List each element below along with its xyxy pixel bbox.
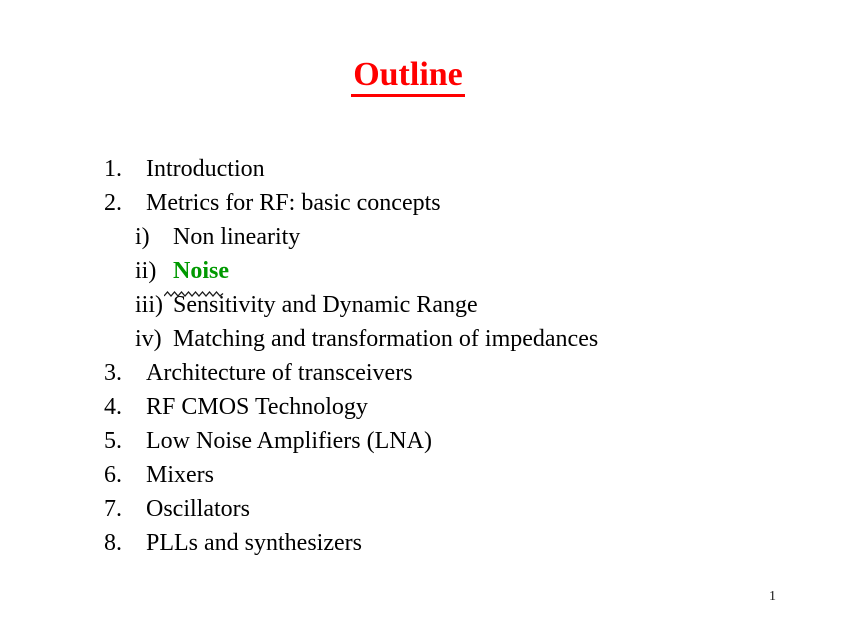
list-item-marker: ii) bbox=[135, 254, 173, 288]
list-item-label: RF CMOS Technology bbox=[146, 390, 368, 424]
list-item: iv) Matching and transformation of imped… bbox=[104, 322, 804, 356]
list-item-label: PLLs and synthesizers bbox=[146, 526, 362, 560]
list-item: 1. Introduction bbox=[104, 152, 804, 186]
list-item-marker: 5. bbox=[104, 424, 146, 458]
list-item: 8. PLLs and synthesizers bbox=[104, 526, 804, 560]
list-item: iii) Sensitivity and Dynamic Range bbox=[104, 288, 804, 322]
outline-list: 1. Introduction 2. Metrics for RF: basic… bbox=[104, 152, 804, 560]
list-item-label-highlighted: Noise bbox=[173, 254, 229, 288]
page-number: 1 bbox=[769, 590, 776, 604]
list-item: 5. Low Noise Amplifiers (LNA) bbox=[104, 424, 804, 458]
list-item-label: Architecture of transceivers bbox=[146, 356, 413, 390]
list-item: 2. Metrics for RF: basic concepts bbox=[104, 186, 804, 220]
list-item-marker: 2. bbox=[104, 186, 146, 220]
list-item-label: Non linearity bbox=[173, 220, 300, 254]
list-item-marker: 6. bbox=[104, 458, 146, 492]
list-item-label: Oscillators bbox=[146, 492, 250, 526]
list-item: i) Non linearity bbox=[104, 220, 804, 254]
list-item: 6. Mixers bbox=[104, 458, 804, 492]
list-item-marker: i) bbox=[135, 220, 173, 254]
list-item: 7. Oscillators bbox=[104, 492, 804, 526]
list-item-label: Matching and transformation of impedance… bbox=[173, 322, 598, 356]
list-item-label: Mixers bbox=[146, 458, 214, 492]
list-item-marker: 3. bbox=[104, 356, 146, 390]
list-item: 3. Architecture of transceivers bbox=[104, 356, 804, 390]
list-item-marker: 7. bbox=[104, 492, 146, 526]
list-item-marker: 8. bbox=[104, 526, 146, 560]
list-item: 4. RF CMOS Technology bbox=[104, 390, 804, 424]
list-item-label: Low Noise Amplifiers (LNA) bbox=[146, 424, 432, 458]
page-title-text: Outline bbox=[353, 56, 463, 96]
list-item-noise: ii) Noise bbox=[104, 254, 804, 288]
list-item-marker: iii) bbox=[135, 288, 173, 322]
list-item-label: Introduction bbox=[146, 152, 265, 186]
slide-canvas: Outline 1. Introduction 2. Metrics for R… bbox=[0, 0, 848, 636]
list-item-marker: 4. bbox=[104, 390, 146, 424]
list-item-marker: iv) bbox=[135, 322, 173, 356]
list-item-label: Metrics for RF: basic concepts bbox=[146, 186, 441, 220]
page-title: Outline bbox=[0, 56, 816, 96]
list-item-label: Sensitivity and Dynamic Range bbox=[173, 288, 478, 322]
list-item-marker: 1. bbox=[104, 152, 146, 186]
